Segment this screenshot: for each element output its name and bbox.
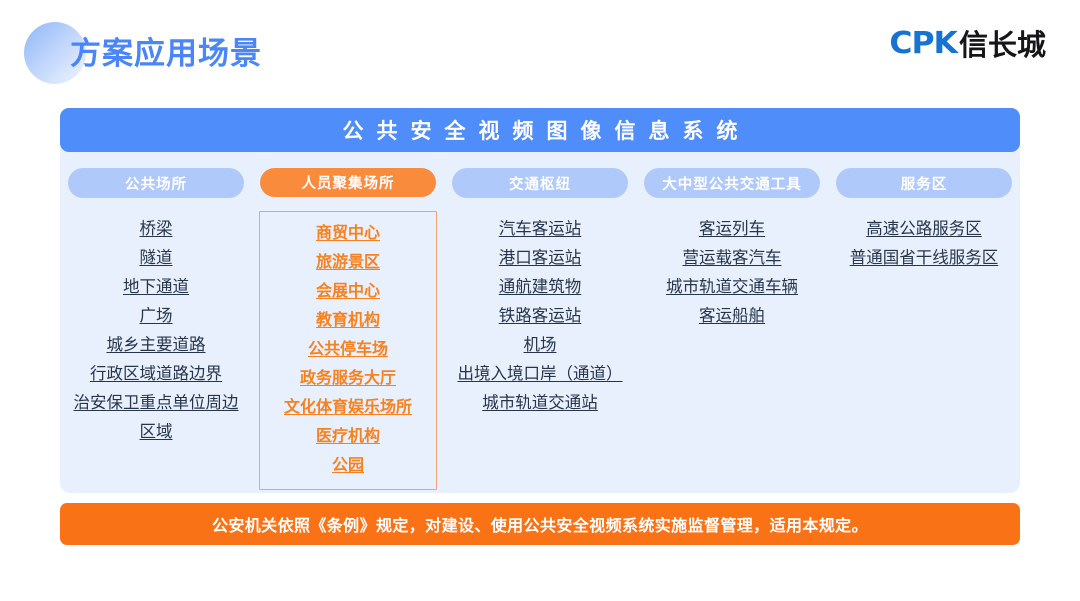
category-pill-5[interactable]: 服务区 bbox=[836, 168, 1012, 198]
list-item[interactable]: 旅游景区 bbox=[316, 248, 380, 277]
category-item-list-1: 桥梁隧道地下通道广场城乡主要道路行政区域道路边界治安保卫重点单位周边区域 bbox=[68, 214, 244, 446]
list-item[interactable]: 公园 bbox=[332, 451, 364, 480]
list-item[interactable]: 城市轨道交通车辆 bbox=[666, 272, 798, 301]
list-item[interactable]: 普通国省干线服务区 bbox=[850, 243, 999, 272]
list-item[interactable]: 医疗机构 bbox=[316, 422, 380, 451]
list-item[interactable]: 行政区域道路边界 bbox=[90, 359, 222, 388]
brand-logo: CPK 信长城 bbox=[891, 26, 1046, 60]
list-item[interactable]: 机场 bbox=[524, 330, 557, 359]
list-item[interactable]: 通航建筑物 bbox=[499, 272, 582, 301]
list-item[interactable]: 公共停车场 bbox=[308, 335, 388, 364]
category-column-3: 交通枢纽汽车客运站港口客运站通航建筑物铁路客运站机场出境入境口岸（通道）城市轨道… bbox=[444, 168, 636, 490]
brand-logo-name: 信长城 bbox=[959, 22, 1046, 64]
list-item[interactable]: 港口客运站 bbox=[499, 243, 582, 272]
brand-logo-mark: CPK bbox=[889, 26, 956, 61]
list-item[interactable]: 文化体育娱乐场所 bbox=[284, 393, 412, 422]
page-title: 方案应用场景 bbox=[70, 34, 262, 74]
list-item[interactable]: 营运载客汽车 bbox=[683, 243, 782, 272]
category-item-list-5: 高速公路服务区普通国省干线服务区 bbox=[836, 214, 1012, 272]
list-item[interactable]: 高速公路服务区 bbox=[866, 214, 982, 243]
category-column-2: 人员聚集场所商贸中心旅游景区会展中心教育机构公共停车场政务服务大厅文化体育娱乐场… bbox=[252, 168, 444, 490]
page-header: 方案应用场景 CPK 信长城 bbox=[0, 0, 1080, 95]
list-item[interactable]: 城市轨道交通站 bbox=[482, 388, 598, 417]
list-item[interactable]: 会展中心 bbox=[316, 277, 380, 306]
list-item[interactable]: 隧道 bbox=[140, 243, 173, 272]
category-item-list-2: 商贸中心旅游景区会展中心教育机构公共停车场政务服务大厅文化体育娱乐场所医疗机构公… bbox=[259, 211, 437, 490]
list-item[interactable]: 汽车客运站 bbox=[499, 214, 582, 243]
list-item[interactable]: 广场 bbox=[140, 301, 173, 330]
category-pill-2[interactable]: 人员聚集场所 bbox=[260, 168, 436, 197]
regulation-note-bar: 公安机关依照《条例》规定，对建设、使用公共安全视频系统实施监督管理，适用本规定。 bbox=[60, 503, 1020, 545]
category-item-list-4: 客运列车营运载客汽车城市轨道交通车辆客运船舶 bbox=[644, 214, 820, 330]
system-title-bar: 公共安全视频图像信息系统 bbox=[60, 108, 1020, 152]
list-item[interactable]: 地下通道 bbox=[123, 272, 189, 301]
category-pill-1[interactable]: 公共场所 bbox=[68, 168, 244, 198]
list-item[interactable]: 城乡主要道路 bbox=[107, 330, 206, 359]
list-item[interactable]: 政务服务大厅 bbox=[300, 364, 396, 393]
list-item[interactable]: 商贸中心 bbox=[316, 219, 380, 248]
category-item-list-3: 汽车客运站港口客运站通航建筑物铁路客运站机场出境入境口岸（通道）城市轨道交通站 bbox=[452, 214, 628, 417]
list-item[interactable]: 铁路客运站 bbox=[499, 301, 582, 330]
category-column-1: 公共场所桥梁隧道地下通道广场城乡主要道路行政区域道路边界治安保卫重点单位周边区域 bbox=[60, 168, 252, 490]
category-pill-3[interactable]: 交通枢纽 bbox=[452, 168, 628, 198]
list-item[interactable]: 桥梁 bbox=[140, 214, 173, 243]
category-pill-4[interactable]: 大中型公共交通工具 bbox=[644, 168, 820, 198]
category-column-4: 大中型公共交通工具客运列车营运载客汽车城市轨道交通车辆客运船舶 bbox=[636, 168, 828, 490]
category-columns: 公共场所桥梁隧道地下通道广场城乡主要道路行政区域道路边界治安保卫重点单位周边区域… bbox=[60, 168, 1020, 490]
list-item[interactable]: 客运列车 bbox=[699, 214, 765, 243]
list-item[interactable]: 治安保卫重点单位周边区域 bbox=[68, 388, 244, 446]
category-column-5: 服务区高速公路服务区普通国省干线服务区 bbox=[828, 168, 1020, 490]
list-item[interactable]: 教育机构 bbox=[316, 306, 380, 335]
list-item[interactable]: 客运船舶 bbox=[699, 301, 765, 330]
list-item[interactable]: 出境入境口岸（通道） bbox=[458, 359, 623, 388]
